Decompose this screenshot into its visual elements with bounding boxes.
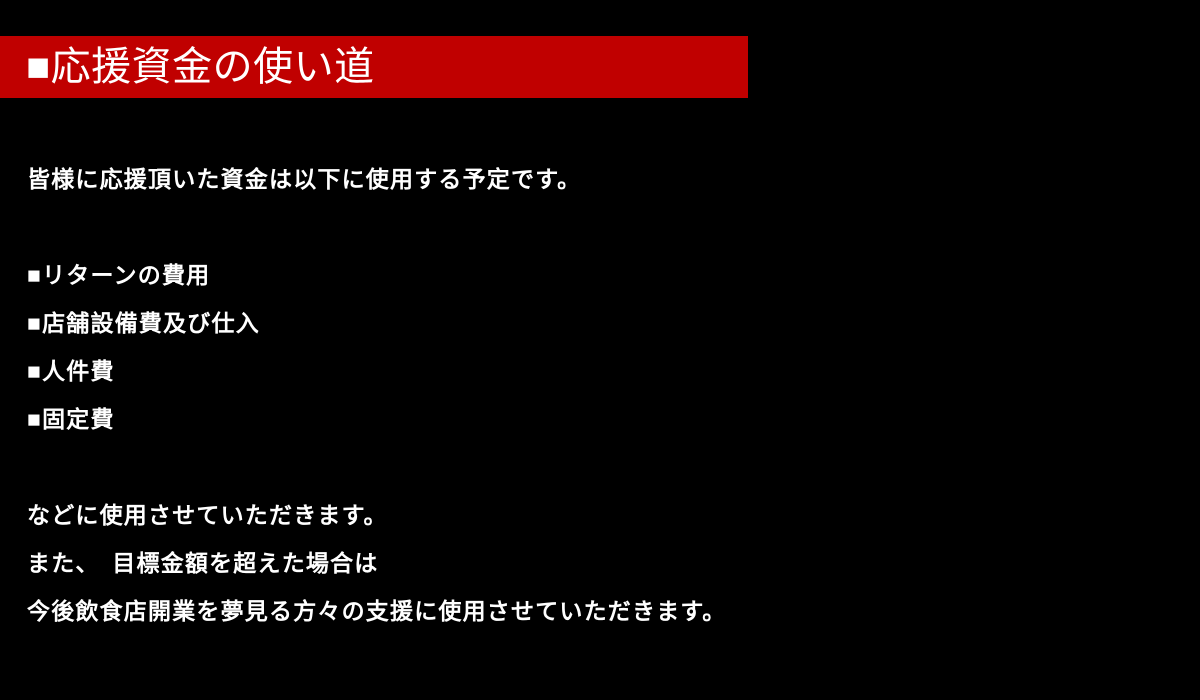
list-item: ■リターンの費用 [27,251,1167,299]
fund-usage-list: ■リターンの費用 ■店舗設備費及び仕入 ■人件費 ■固定費 [27,251,1167,443]
closing-paragraph-line-2: また、 目標金額を超えた場合は [27,539,1167,587]
slide-canvas: ■応援資金の使い道 皆様に応援頂いた資金は以下に使用する予定です。 ■リターンの… [0,0,1200,700]
spacer-before-list [27,203,1167,251]
closing-paragraph-line-1: などに使用させていただきます。 [27,491,1167,539]
closing-paragraph-line-3: 今後飲食店開業を夢見る方々の支援に使用させていただきます。 [27,587,1167,635]
list-item: ■店舗設備費及び仕入 [27,299,1167,347]
section-header-banner: ■応援資金の使い道 [0,36,748,98]
intro-paragraph: 皆様に応援頂いた資金は以下に使用する予定です。 [27,155,1167,203]
list-item: ■固定費 [27,395,1167,443]
list-item: ■人件費 [27,347,1167,395]
spacer-after-list [27,443,1167,491]
page-title: ■応援資金の使い道 [0,47,375,87]
body-content: 皆様に応援頂いた資金は以下に使用する予定です。 ■リターンの費用 ■店舗設備費及… [27,155,1167,635]
